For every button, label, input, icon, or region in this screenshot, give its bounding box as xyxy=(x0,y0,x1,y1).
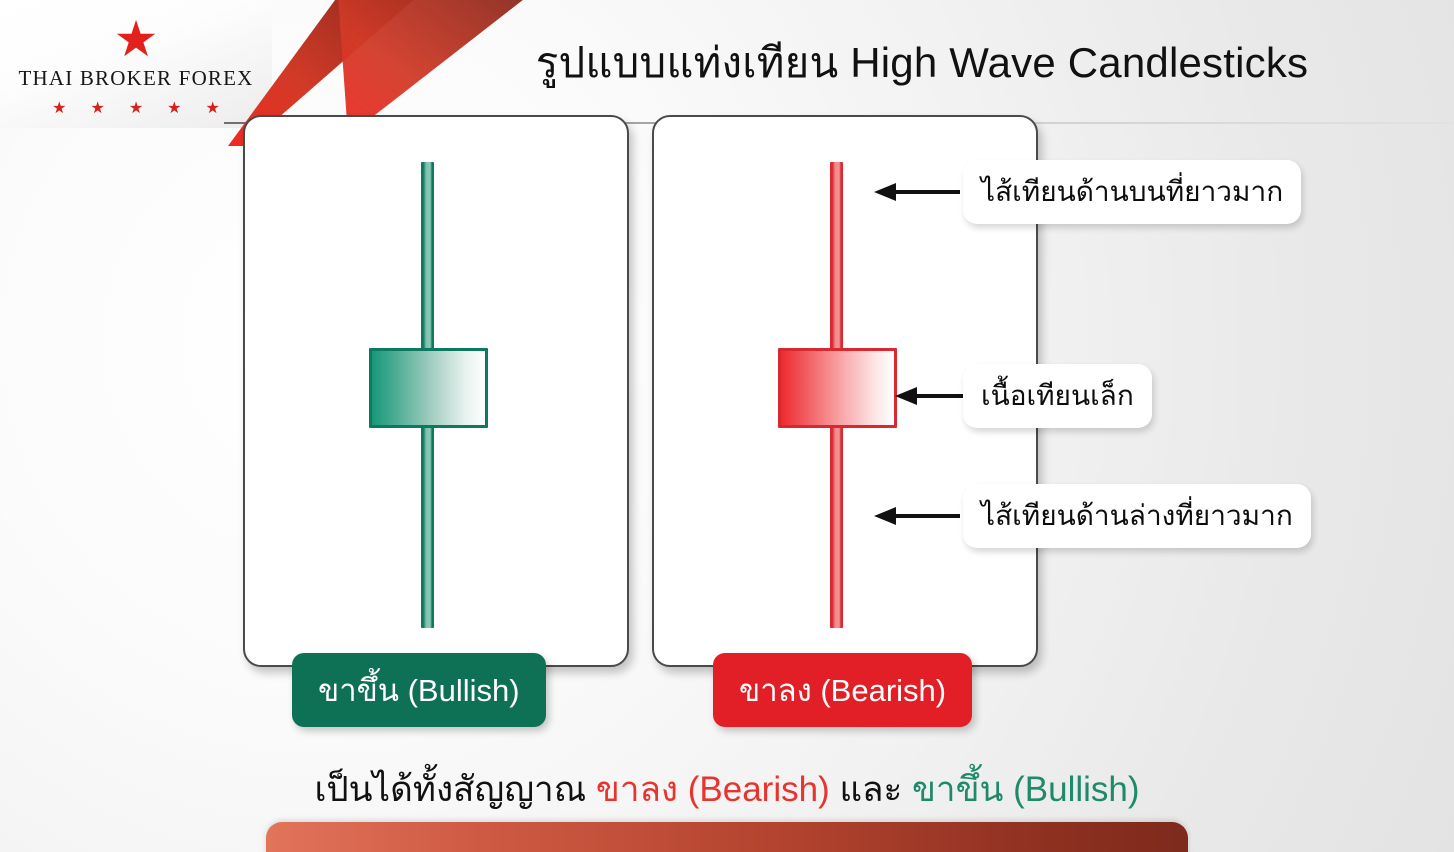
brand-wordmark: THAI BROKER FOREX xyxy=(0,66,272,91)
mini-stars-icon: ★★★★★ xyxy=(0,98,272,118)
star-icon: ★ xyxy=(114,14,159,64)
badge-bullish: ขาขึ้น (Bullish) xyxy=(292,653,546,727)
summary-caption: เป็นได้ทั้งสัญญาณ ขาลง (Bearish) และ ขาข… xyxy=(0,762,1454,817)
candle-body-bullish xyxy=(369,348,488,428)
brand-logo: ★ THAI BROKER FOREX ★★★★★ xyxy=(0,0,272,128)
badge-bearish: ขาลง (Bearish) xyxy=(713,653,972,727)
caption-bullish: ขาขึ้น (Bullish) xyxy=(912,770,1140,809)
candlestick-bullish xyxy=(243,115,625,663)
candle-body-bearish xyxy=(778,348,897,428)
slide-canvas: ★ THAI BROKER FOREX ★★★★★ รูปแบบแท่งเทีย… xyxy=(0,0,1454,852)
callout-body: เนื้อเทียนเล็ก xyxy=(963,364,1152,428)
callout-lower-wick: ไส้เทียนด้านล่างที่ยาวมาก xyxy=(963,484,1311,548)
caption-middle: และ xyxy=(830,770,912,809)
caption-bearish: ขาลง (Bearish) xyxy=(596,770,830,809)
callout-upper-wick: ไส้เทียนด้านบนที่ยาวมาก xyxy=(963,160,1301,224)
caption-lead: เป็นได้ทั้งสัญญาณ xyxy=(314,770,595,809)
bottom-banner xyxy=(266,822,1188,852)
page-title: รูปแบบแท่งเทียน High Wave Candlesticks xyxy=(400,30,1444,96)
